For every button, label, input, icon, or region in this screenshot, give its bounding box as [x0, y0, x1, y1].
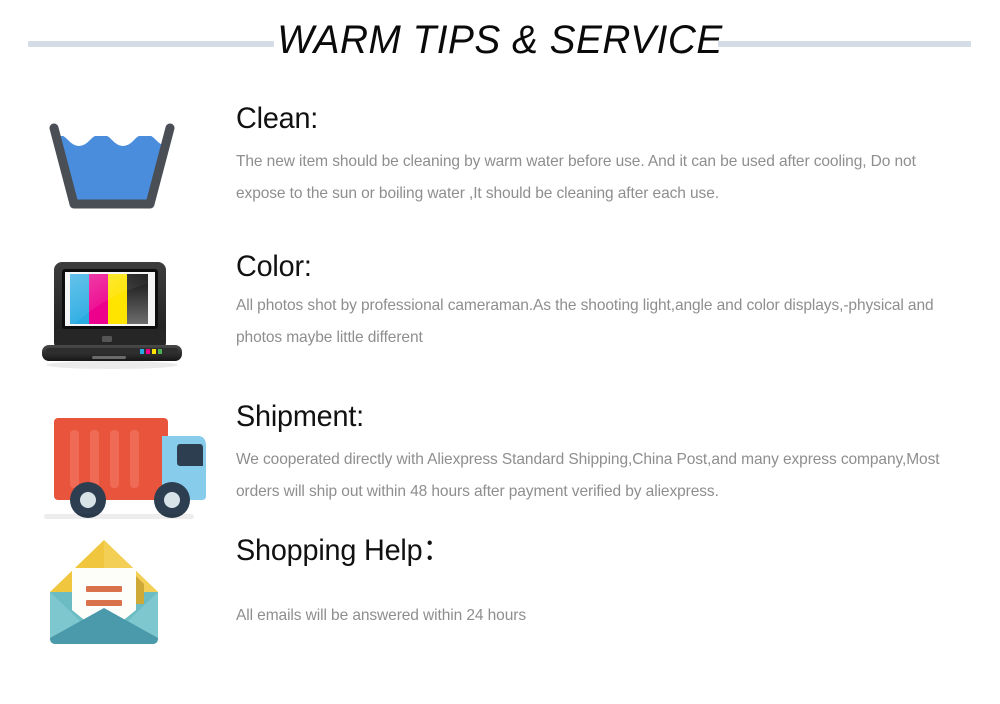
- laptop-color-icon: [32, 252, 192, 376]
- wash-basin-icon: [36, 108, 188, 220]
- section-clean: Clean: The new item should be cleaning b…: [0, 100, 1000, 240]
- section-shipment-text: Shipment: We cooperated directly with Al…: [236, 398, 986, 508]
- open-envelope-icon: [44, 534, 164, 652]
- section-help: Shopping Help： All emails will be answer…: [0, 532, 1000, 672]
- section-shipment-body: We cooperated directly with Aliexpress S…: [236, 444, 964, 508]
- page-title: WARM TIPS & SERVICE: [15, 13, 985, 67]
- section-color-icon-container: [28, 248, 208, 378]
- section-help-heading: Shopping Help：: [236, 532, 956, 570]
- section-color: Color: All photos shot by professional c…: [0, 248, 1000, 388]
- section-help-text: Shopping Help： All emails will be answer…: [236, 532, 986, 632]
- section-color-text: Color: All photos shot by professional c…: [236, 248, 986, 354]
- page-header: WARM TIPS & SERVICE: [0, 0, 1000, 88]
- section-clean-body: The new item should be cleaning by warm …: [236, 146, 964, 210]
- section-color-body: All photos shot by professional camerama…: [236, 290, 964, 354]
- section-shipment: Shipment: We cooperated directly with Al…: [0, 398, 1000, 538]
- section-clean-text: Clean: The new item should be cleaning b…: [236, 100, 986, 210]
- section-color-heading: Color:: [236, 248, 956, 286]
- section-shipment-icon-container: [28, 398, 208, 528]
- delivery-truck-icon: [30, 400, 206, 522]
- section-clean-heading: Clean:: [236, 100, 956, 138]
- section-help-icon-container: [28, 532, 208, 662]
- section-shipment-heading: Shipment:: [236, 398, 956, 436]
- section-help-body: All emails will be answered within 24 ho…: [236, 600, 964, 632]
- section-clean-icon-container: [28, 100, 208, 230]
